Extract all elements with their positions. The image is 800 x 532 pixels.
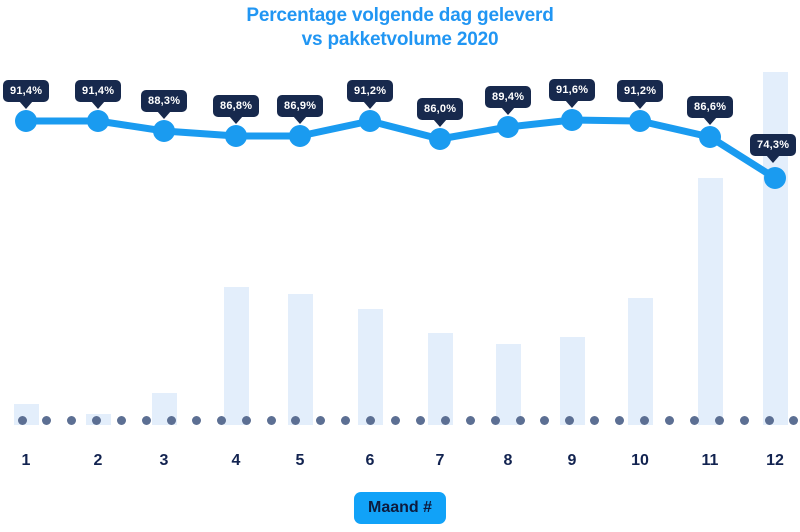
line-path xyxy=(26,120,775,178)
line-series-percentage xyxy=(0,0,800,470)
x-axis-tick-4: 4 xyxy=(206,452,266,470)
data-label-month-12: 74,3% xyxy=(750,134,796,156)
line-marker-month-5[interactable] xyxy=(289,125,311,147)
x-axis-tick-11: 11 xyxy=(680,452,740,470)
plot-area: 91,4%91,4%88,3%86,8%86,9%91,2%86,0%89,4%… xyxy=(0,0,800,470)
line-marker-month-6[interactable] xyxy=(359,110,381,132)
x-axis-tick-12: 12 xyxy=(745,452,800,470)
x-axis-tick-2: 2 xyxy=(68,452,128,470)
line-marker-month-9[interactable] xyxy=(561,109,583,131)
data-label-month-6: 91,2% xyxy=(347,80,393,102)
chart-container: Percentage volgende dag geleverd vs pakk… xyxy=(0,0,800,532)
line-marker-month-10[interactable] xyxy=(629,110,651,132)
line-marker-month-1[interactable] xyxy=(15,110,37,132)
x-axis-title-badge: Maand # xyxy=(354,492,446,524)
x-axis-tick-6: 6 xyxy=(340,452,400,470)
line-marker-month-2[interactable] xyxy=(87,110,109,132)
line-marker-month-11[interactable] xyxy=(699,126,721,148)
line-marker-month-8[interactable] xyxy=(497,116,519,138)
data-label-month-4: 86,8% xyxy=(213,95,259,117)
data-label-month-2: 91,4% xyxy=(75,80,121,102)
x-axis-tick-9: 9 xyxy=(542,452,602,470)
data-label-month-7: 86,0% xyxy=(417,98,463,120)
line-marker-month-4[interactable] xyxy=(225,125,247,147)
x-axis-tick-8: 8 xyxy=(478,452,538,470)
x-axis-tick-7: 7 xyxy=(410,452,470,470)
data-label-month-5: 86,9% xyxy=(277,95,323,117)
line-marker-month-12[interactable] xyxy=(764,167,786,189)
x-axis-tick-1: 1 xyxy=(0,452,56,470)
data-label-month-8: 89,4% xyxy=(485,86,531,108)
data-label-month-10: 91,2% xyxy=(617,80,663,102)
x-axis-tick-10: 10 xyxy=(610,452,670,470)
data-label-month-3: 88,3% xyxy=(141,90,187,112)
x-axis-tick-3: 3 xyxy=(134,452,194,470)
line-marker-month-7[interactable] xyxy=(429,128,451,150)
data-label-month-11: 86,6% xyxy=(687,96,733,118)
x-axis-tick-5: 5 xyxy=(270,452,330,470)
data-label-month-1: 91,4% xyxy=(3,80,49,102)
line-marker-month-3[interactable] xyxy=(153,120,175,142)
data-label-month-9: 91,6% xyxy=(549,79,595,101)
